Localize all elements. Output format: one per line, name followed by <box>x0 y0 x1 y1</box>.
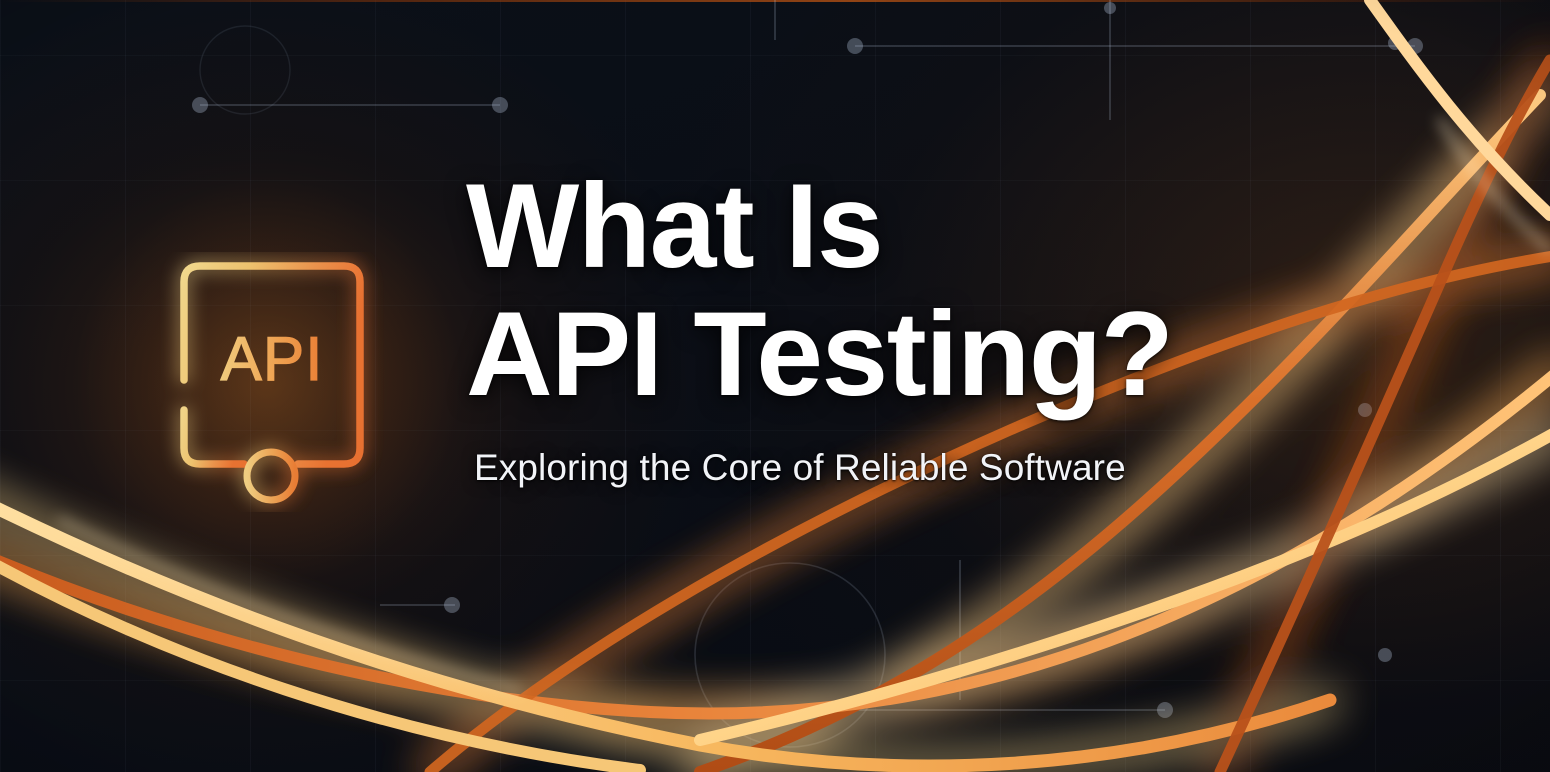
subtitle: Exploring the Core of Reliable Software <box>474 447 1406 489</box>
logo-frame-lower-left <box>184 410 244 464</box>
decor-circle-outline-small <box>200 26 290 114</box>
api-testing-logo: API <box>148 252 388 512</box>
logo-mark-svg: API <box>148 252 388 512</box>
headline-block: What Is API Testing? Exploring the Core … <box>466 168 1406 489</box>
api-testing-banner: API What Is API Testing? Exploring the C… <box>0 0 1550 772</box>
logo-node <box>247 420 295 500</box>
headline-line-2: API Testing? <box>466 296 1406 414</box>
headline-line-1: What Is <box>466 168 1406 286</box>
logo-node-circle <box>247 452 295 500</box>
logo-api-text: API <box>221 325 324 394</box>
